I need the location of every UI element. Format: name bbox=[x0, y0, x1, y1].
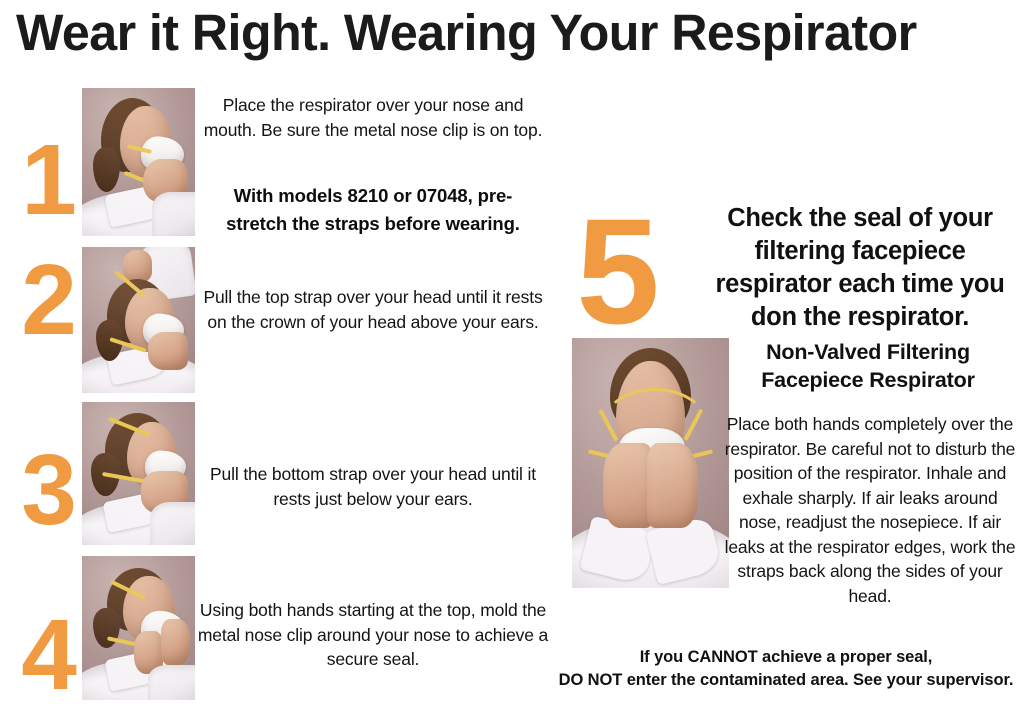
step-number-2: 2 bbox=[14, 250, 84, 350]
step-emphasis-1: With models 8210 or 07048, pre-stretch t… bbox=[206, 182, 540, 238]
step-subheading-5: Non-Valved Filtering Facepiece Respirato… bbox=[718, 338, 1018, 394]
page-title: Wear it Right. Wearing Your Respirator bbox=[16, 2, 1005, 64]
warning-line-2: DO NOT enter the contaminated area. See … bbox=[540, 669, 1032, 692]
step-photo-1 bbox=[82, 88, 195, 236]
step-photo-2 bbox=[82, 247, 195, 393]
step-photo-5 bbox=[572, 338, 729, 588]
respirator-instruction-poster: Wear it Right. Wearing Your Respirator 1… bbox=[0, 0, 1036, 712]
step-text-5: Place both hands completely over the res… bbox=[722, 412, 1018, 608]
step-heading-5: Check the seal of your filtering facepie… bbox=[700, 202, 1020, 334]
step-text-2: Pull the top strap over your head until … bbox=[196, 285, 550, 334]
step-text-4: Using both hands starting at the top, mo… bbox=[196, 598, 550, 672]
step-text-1: Place the respirator over your nose and … bbox=[196, 93, 550, 142]
step-number-5: 5 bbox=[558, 196, 678, 346]
step-number-4: 4 bbox=[14, 605, 84, 705]
step-number-3: 3 bbox=[14, 440, 84, 540]
step-photo-3 bbox=[82, 402, 195, 545]
warning-line-1: If you CANNOT achieve a proper seal, bbox=[540, 646, 1032, 669]
step-photo-4 bbox=[82, 556, 195, 700]
step-number-1: 1 bbox=[14, 130, 84, 230]
step-text-3: Pull the bottom strap over your head unt… bbox=[196, 462, 550, 511]
